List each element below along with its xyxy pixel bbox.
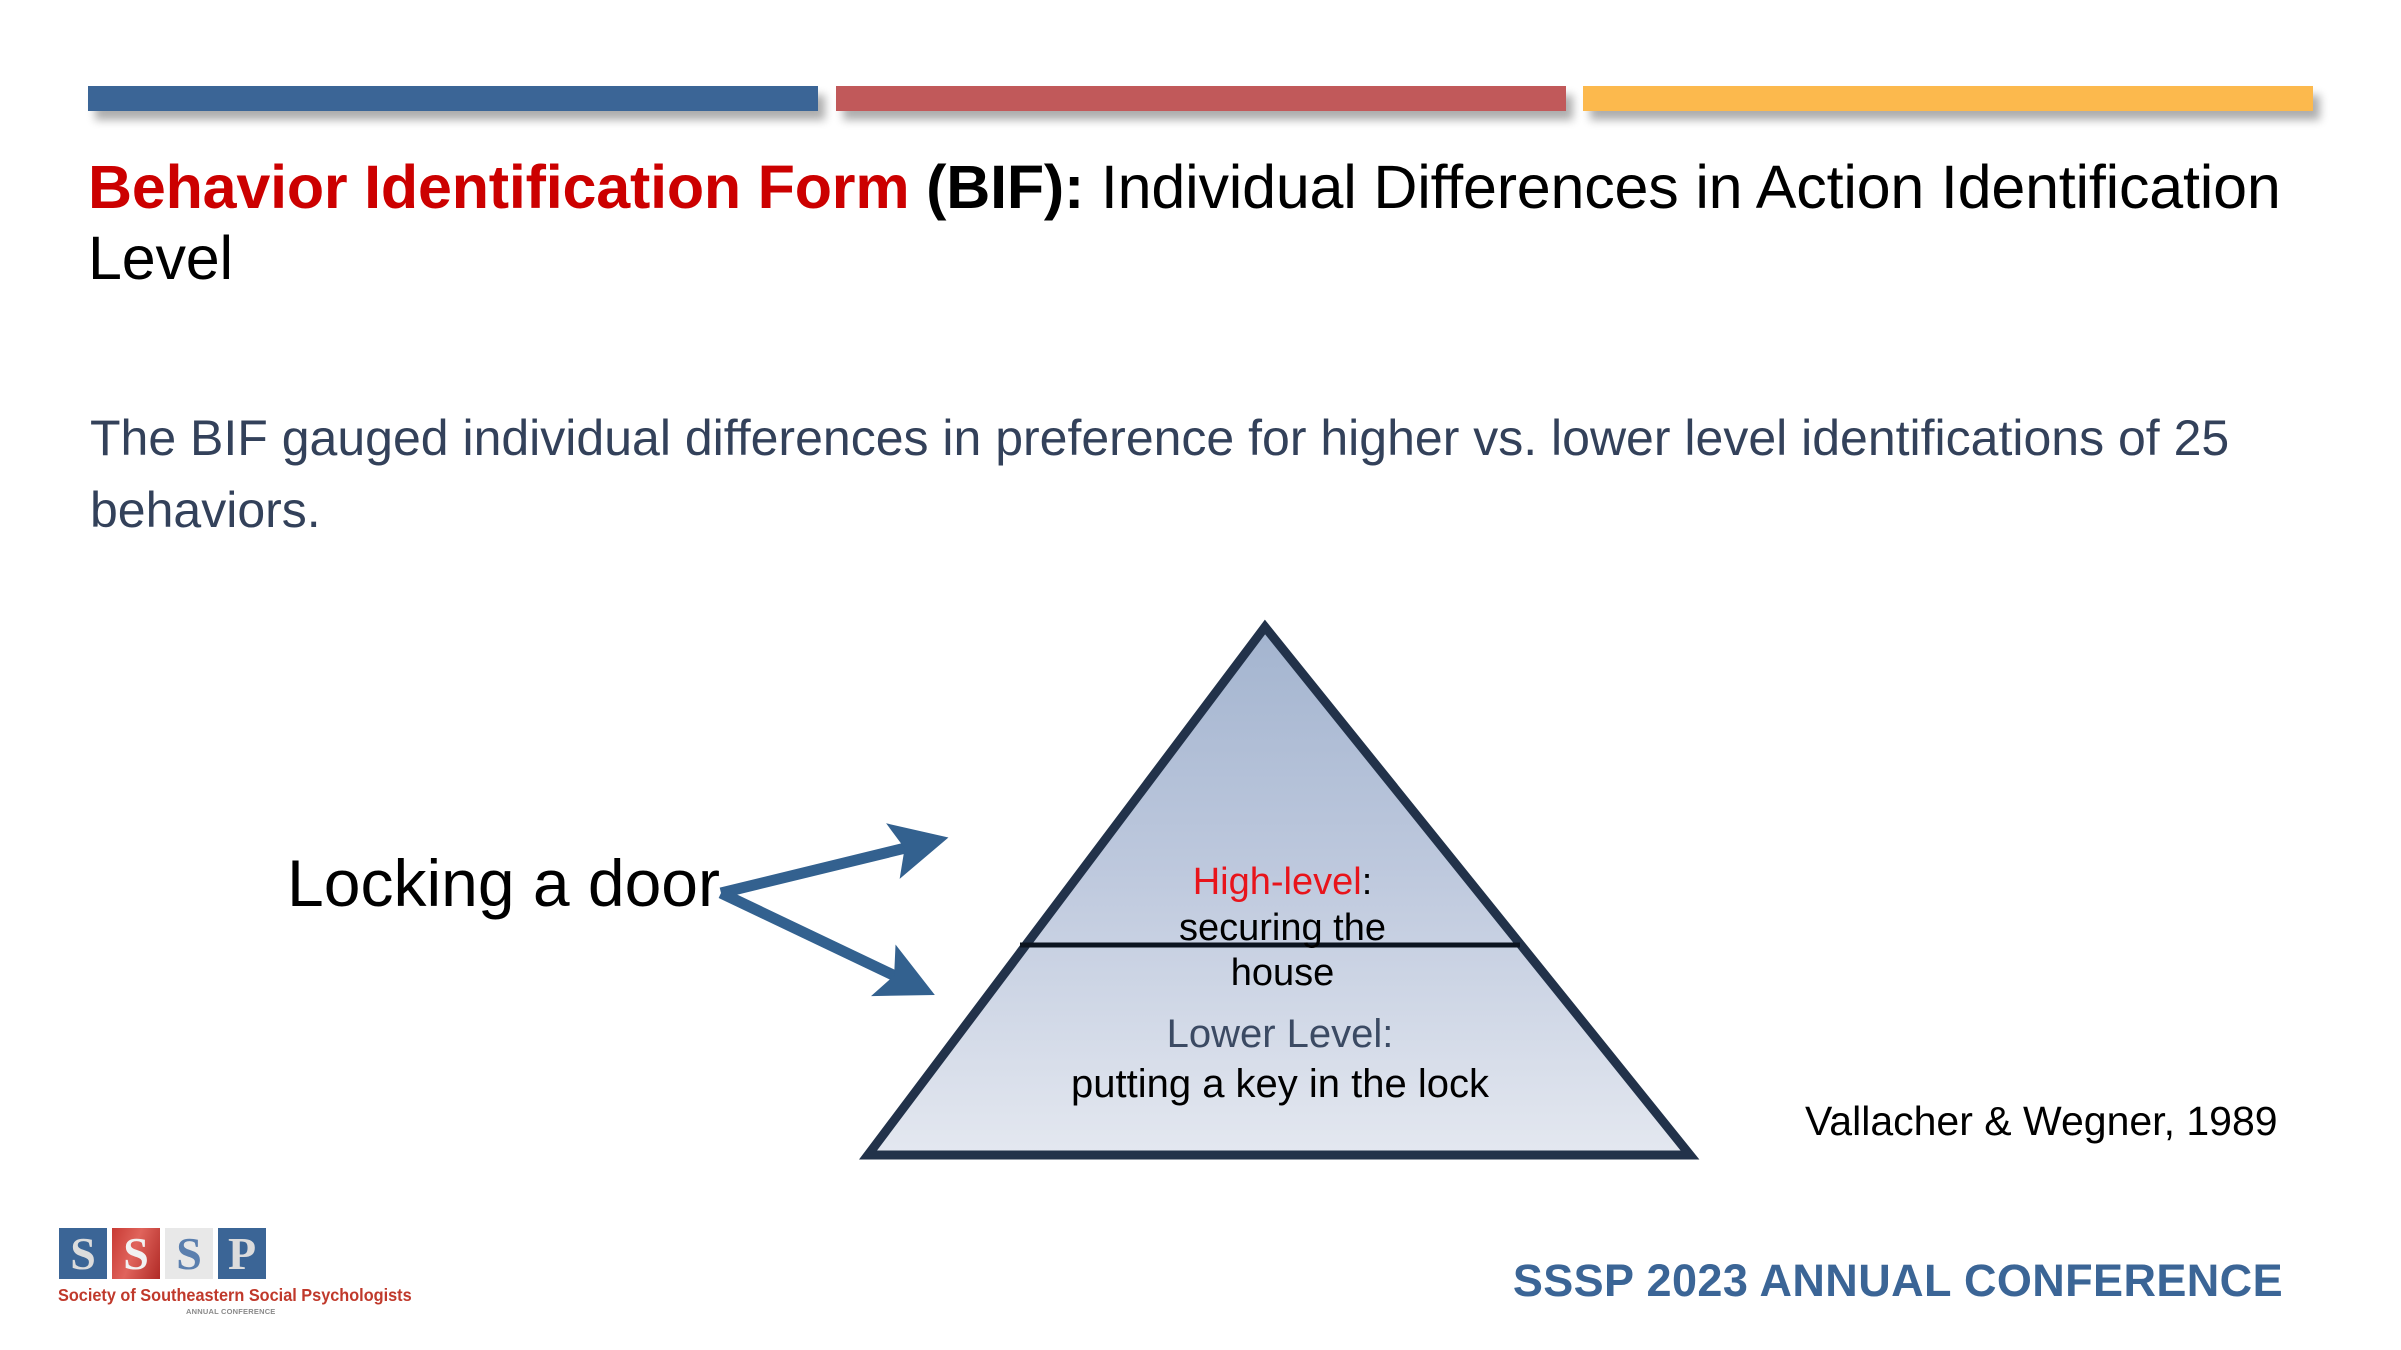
slide-canvas: Behavior Identification Form (BIF): Indi… [0, 0, 2401, 1350]
footer-conference-text: SSSP 2023 ANNUAL CONFERENCE [1415, 1255, 2283, 1307]
behavior-label: Locking a door [160, 845, 720, 921]
sssp-logo: S S S P Society of Southeastern Social P… [58, 1227, 318, 1324]
high-level-text: High-level: securing the house [1150, 860, 1415, 997]
high-level-colon: : [1362, 861, 1373, 903]
title-abbreviation: (BIF): [909, 153, 1084, 221]
accent-bar-red [836, 86, 1566, 111]
logo-letter-3: S [164, 1227, 214, 1280]
logo-letter-2: S [111, 1227, 161, 1280]
logo-letter-4: P [217, 1227, 267, 1280]
accent-bar-blue [88, 86, 818, 111]
citation: Vallacher & Wegner, 1989 [1805, 1098, 2278, 1145]
logo-letter-1: S [58, 1227, 108, 1280]
lower-level-label: Lower Level: [1020, 1010, 1540, 1058]
high-level-label: High-level [1193, 861, 1362, 903]
page-title: Behavior Identification Form (BIF): Indi… [88, 152, 2318, 294]
logo-tagline: Society of Southeastern Social Psycholog… [58, 1285, 291, 1306]
title-emphasis: Behavior Identification Form [88, 153, 909, 221]
lower-level-text: Lower Level: putting a key in the lock [1020, 1010, 1540, 1108]
lower-level-example: putting a key in the lock [1020, 1060, 1540, 1108]
body-paragraph: The BIF gauged individual differences in… [90, 402, 2230, 546]
logo-letter-boxes: S S S P [58, 1227, 267, 1280]
accent-bar-orange [1583, 86, 2313, 111]
pyramid-diagram: High-level: securing the house Lower Lev… [855, 610, 1705, 1175]
high-level-example: securing the house [1179, 907, 1386, 995]
logo-subtagline: ANNUAL CONFERENCE [186, 1307, 276, 1316]
